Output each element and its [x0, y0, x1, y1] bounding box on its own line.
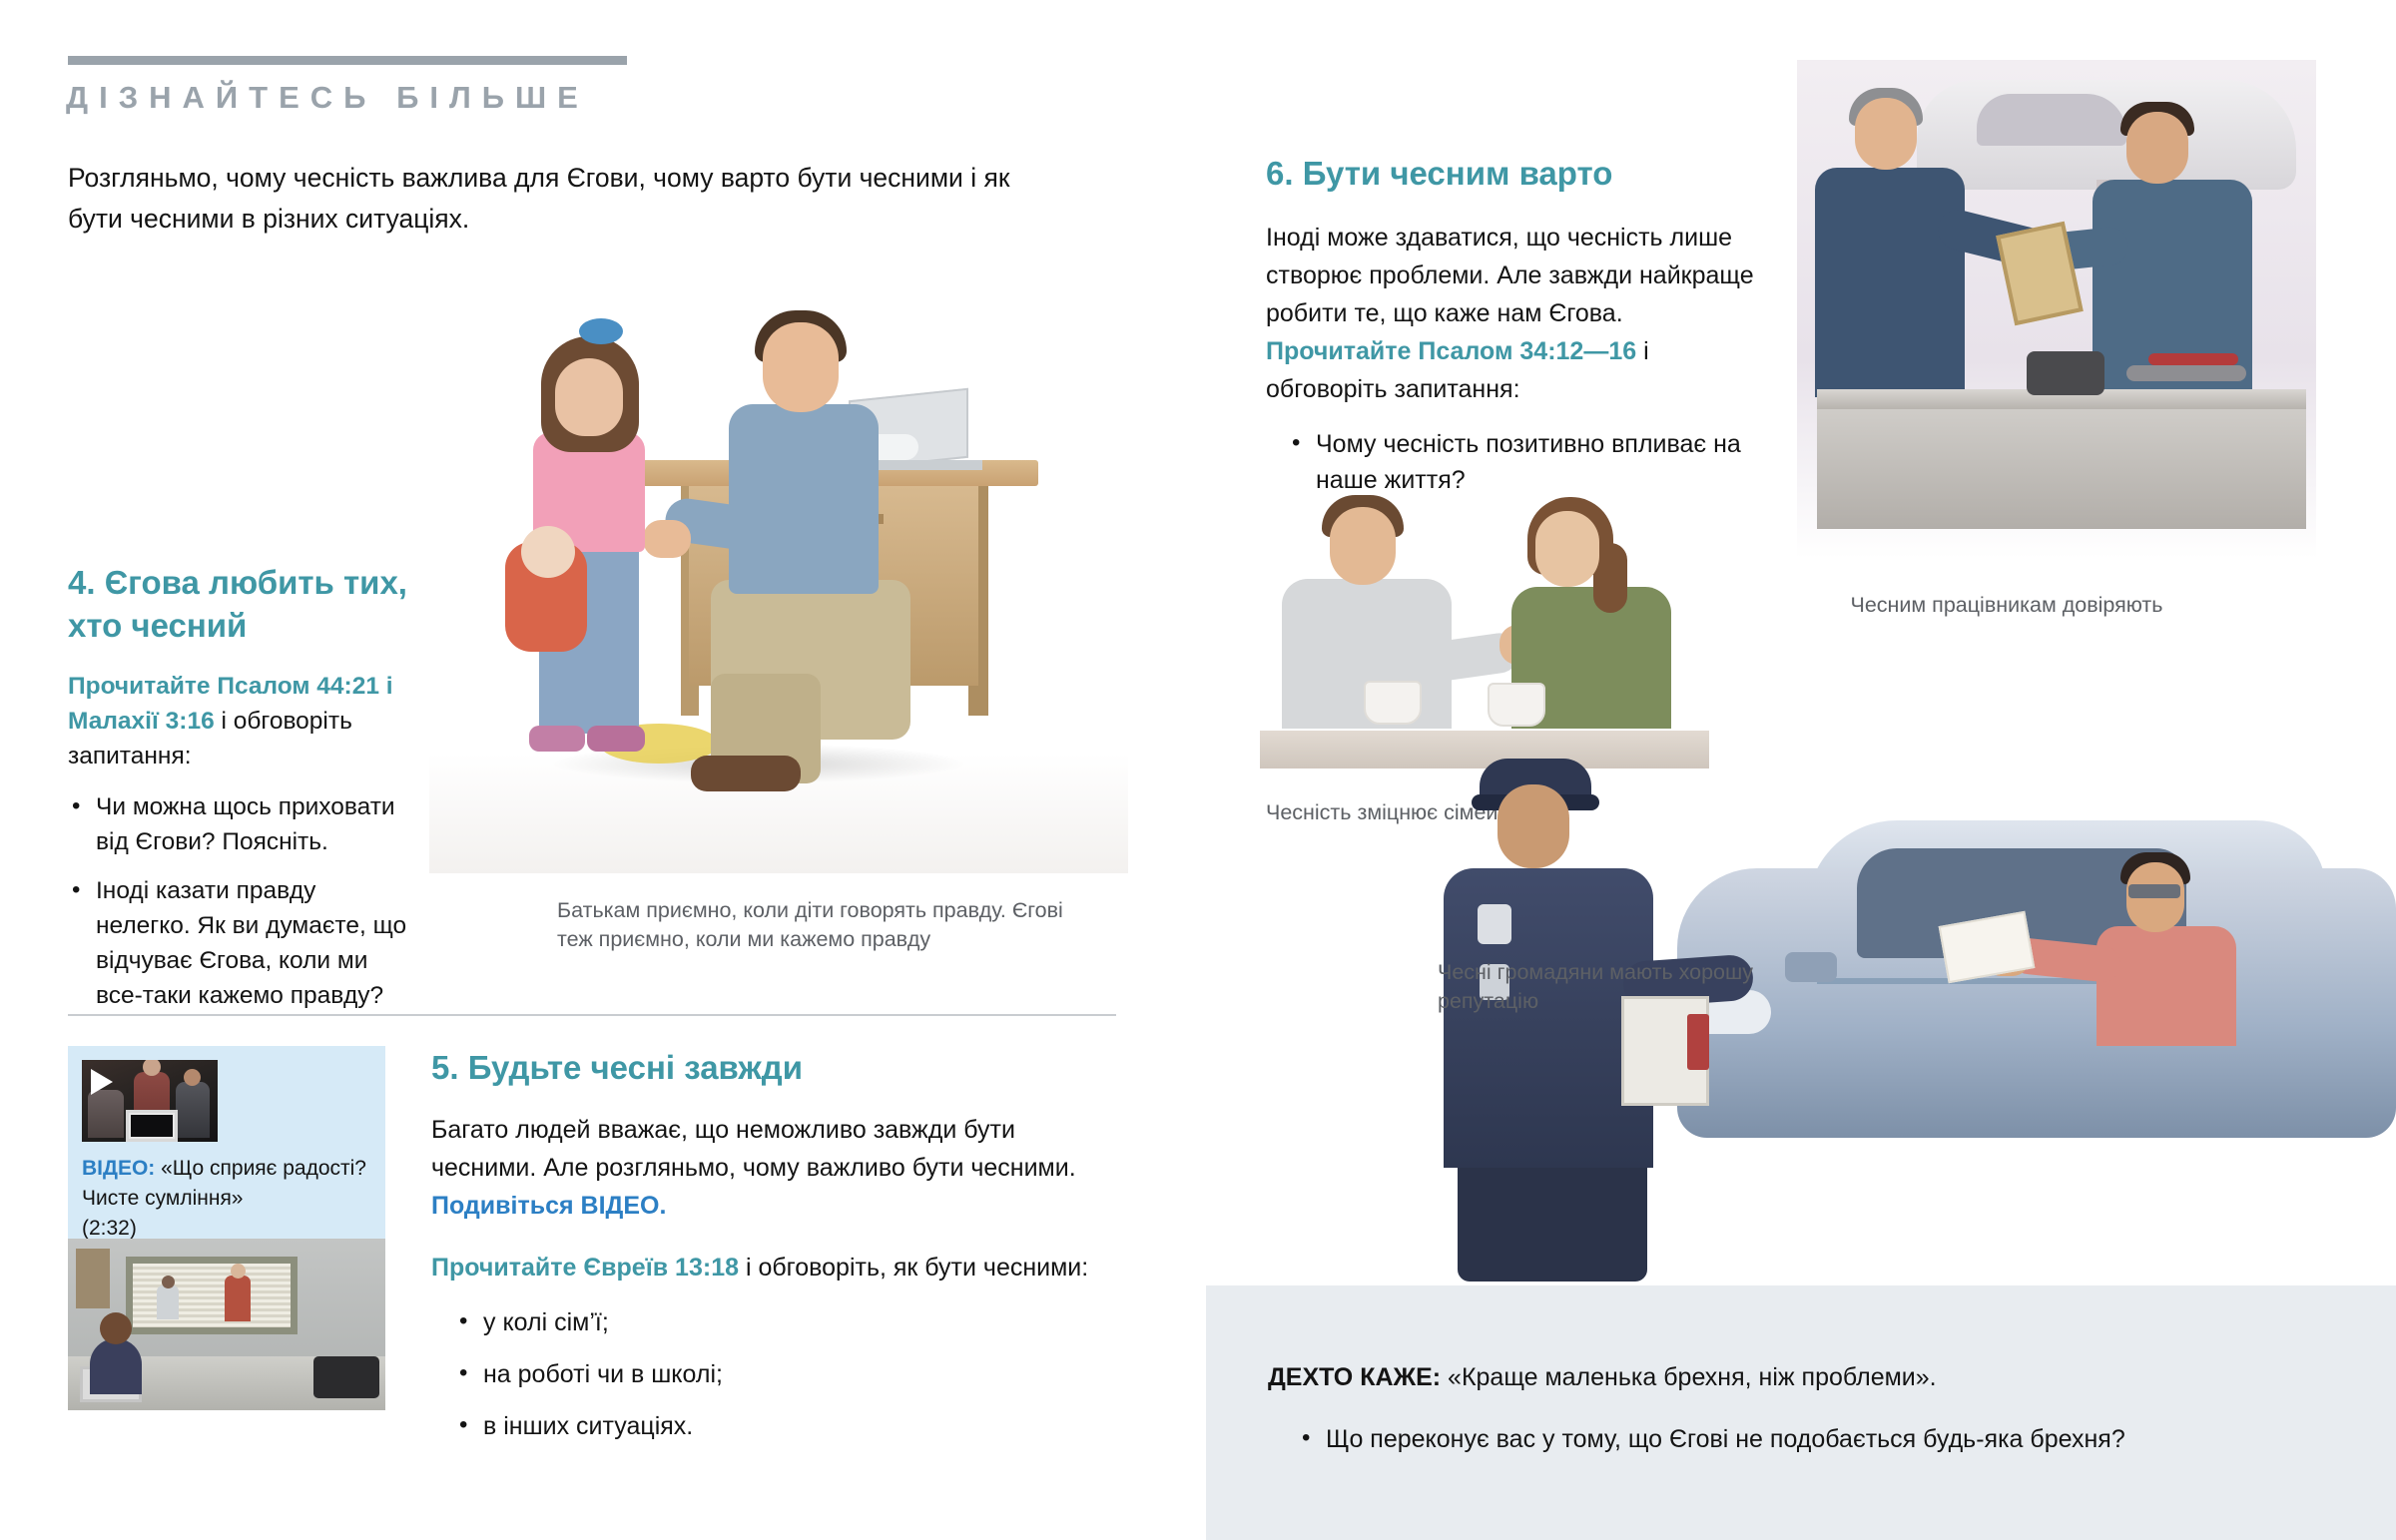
- list-item: у колі сім’ї;: [455, 1304, 1120, 1340]
- panel-quote: «Краще маленька брехня, ніж проблеми».: [1441, 1363, 1936, 1391]
- video-label: ВІДЕО:: [82, 1157, 155, 1180]
- caption-police: Чесні громадяни мають хорошу репутацію: [1438, 958, 1757, 1016]
- illustration-couple-table: [1260, 469, 1709, 769]
- section-5-bullets: у колі сім’ї; на роботі чи в школі; в ін…: [455, 1304, 1120, 1444]
- page-eyebrow-title: ДІЗНАЙТЕСЬ БІЛЬШЕ: [66, 80, 589, 116]
- header-rule: [68, 56, 627, 65]
- panel-label: ДЕХТО КАЖЕ:: [1268, 1363, 1441, 1391]
- video-duration: (2:32): [82, 1217, 137, 1240]
- caption-mechanics: Чесним працівникам довіряють: [1797, 591, 2216, 620]
- section-5-body-text: Багато людей вважає, що неможливо завжди…: [431, 1116, 1076, 1182]
- panel-text: ДЕХТО КАЖЕ: «Краще маленька брехня, ніж …: [1268, 1359, 2326, 1471]
- section-5: 5. Будьте чесні завжди Багато людей вваж…: [431, 1046, 1120, 1460]
- list-item: Іноді казати правду нелегко. Як ви думає…: [68, 873, 412, 1013]
- illustration-father-daughter: [429, 274, 1128, 873]
- video-caption: ВІДЕО: «Що сприяє радості? Чисте сумлінн…: [82, 1154, 371, 1244]
- section-4-heading: 4. Єгова любить тих, хто чесний: [68, 561, 412, 647]
- illustration-mechanics: [1797, 60, 2316, 559]
- section-5-video-link[interactable]: Подивіться ВІДЕО.: [431, 1192, 666, 1220]
- section-6-body: Іноді може здаватися, що чесність лише с…: [1266, 219, 1765, 408]
- list-item: Що переконує вас у тому, що Єгові не под…: [1298, 1421, 2326, 1457]
- section-5-read-rest: і обговоріть, як бути чесними:: [739, 1254, 1088, 1282]
- some-say-panel: ДЕХТО КАЖЕ: «Краще маленька брехня, ніж …: [1206, 1285, 2396, 1540]
- section-6-heading: 6. Бути чесним варто: [1266, 152, 1765, 195]
- section-6-scripture-ref[interactable]: Прочитайте Псалом 34:12—16: [1266, 337, 1636, 365]
- video-callout-box[interactable]: ВІДЕО: «Що сприяє радості? Чисте сумлінн…: [68, 1046, 385, 1260]
- section-4-bullets: Чи можна щось приховати від Єгови? Поясн…: [68, 789, 412, 1013]
- list-item: в інших ситуаціях.: [455, 1408, 1120, 1444]
- document-page: ДІЗНАЙТЕСЬ БІЛЬШЕ Розгляньмо, чому чесні…: [0, 0, 2396, 1540]
- section-5-read-line: Прочитайте Євреїв 13:18 і обговоріть, як…: [431, 1249, 1120, 1286]
- section-6: 6. Бути чесним варто Іноді може здаватис…: [1266, 152, 1765, 512]
- section-5-scripture-ref[interactable]: Прочитайте Євреїв 13:18: [431, 1254, 739, 1282]
- video-thumbnail[interactable]: [82, 1060, 218, 1142]
- panel-bullets: Що переконує вас у тому, що Єгові не под…: [1298, 1421, 2326, 1457]
- list-item: Чи можна щось приховати від Єгови? Поясн…: [68, 789, 412, 859]
- section-6-body-text: Іноді може здаватися, що чесність лише с…: [1266, 224, 1754, 327]
- section-4-body: Прочитайте Псалом 44:21 і Малахії 3:16 і…: [68, 669, 412, 773]
- section-4: 4. Єгова любить тих, хто чесний Прочитай…: [68, 561, 412, 1027]
- section-5-heading: 5. Будьте чесні завжди: [431, 1046, 1120, 1089]
- section-5-body: Багато людей вважає, що неможливо завжди…: [431, 1111, 1120, 1225]
- play-icon[interactable]: [91, 1069, 113, 1095]
- intro-paragraph: Розгляньмо, чому чесність важлива для Єг…: [68, 158, 1066, 240]
- horizontal-divider: [68, 1014, 1116, 1016]
- list-item: на роботі чи в школі;: [455, 1356, 1120, 1392]
- photo-office-meeting: [68, 1239, 385, 1410]
- caption-father-daughter: Батькам приємно, коли діти говорять прав…: [557, 896, 1076, 954]
